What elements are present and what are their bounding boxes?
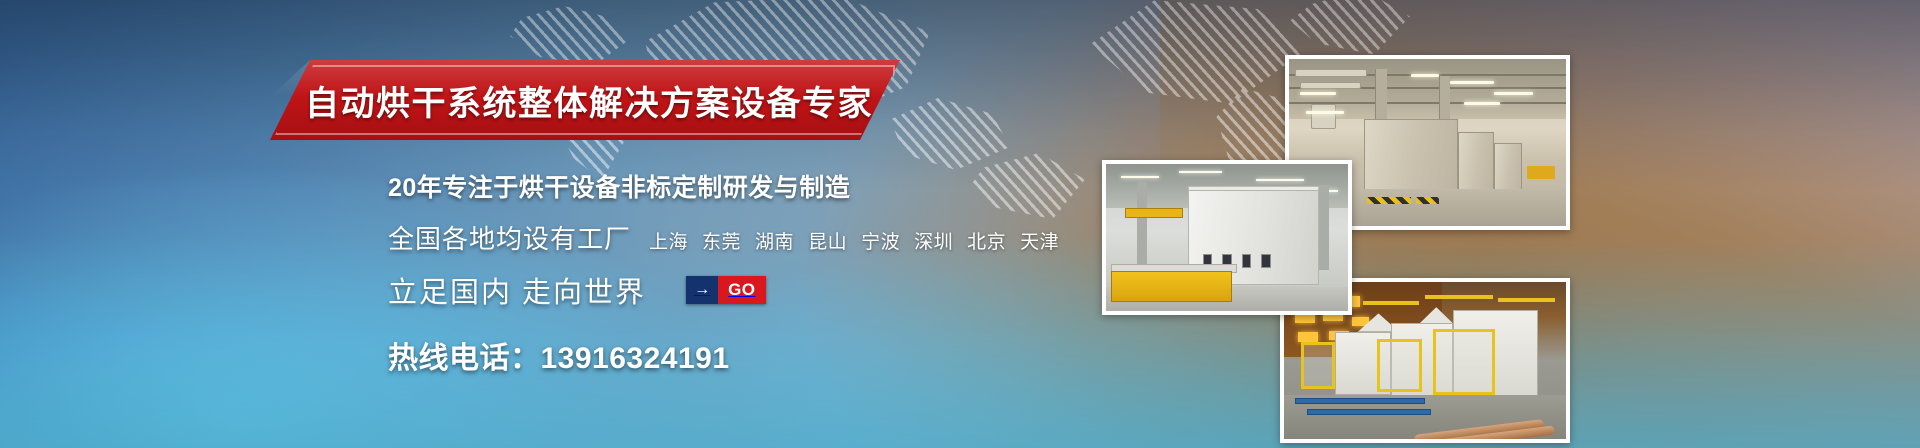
hall-light [1450, 81, 1494, 84]
line-safety-cage [1377, 339, 1422, 392]
hall-duct [1300, 82, 1361, 89]
hall-oven [1364, 119, 1458, 199]
go-button-label: GO [718, 276, 765, 304]
hall-hazard-stripe [1367, 197, 1411, 204]
factory-lead-text: 全国各地均设有工厂 [388, 219, 631, 256]
line-conveyor [1295, 398, 1425, 404]
city-item: 天津 [1020, 227, 1059, 254]
hotline-text: 热线电话：13916324191 [388, 333, 1168, 377]
hall-light [1464, 102, 1500, 105]
copy-block: 20年专注于烘干设备非标定制研发与制造 全国各地均设有工厂 上海 东莞 湖南 昆… [388, 168, 1168, 377]
line-railing [1425, 295, 1493, 299]
line-safety-cage [1301, 342, 1335, 389]
city-item: 深圳 [914, 227, 953, 254]
go-button[interactable]: → GO [686, 276, 765, 304]
chamber-light [1179, 171, 1223, 173]
chamber-window [1242, 254, 1252, 269]
chamber-overhead-crane [1125, 208, 1183, 218]
chamber-light [1121, 176, 1160, 178]
slogan-row: 立足国内 走向世界 → GO [388, 269, 1168, 311]
chamber-light [1256, 179, 1304, 181]
arrow-right-icon: → [686, 276, 718, 304]
line-railing [1363, 301, 1419, 305]
hall-duct [1295, 69, 1367, 77]
scene-drying-chamber [1106, 164, 1348, 311]
line-glow-window [1298, 332, 1318, 341]
hall-light [1494, 92, 1533, 95]
page-title: 自动烘干系统整体解决方案设备专家 [270, 60, 900, 140]
photo-drying-chamber-image [1106, 164, 1348, 311]
city-item: 北京 [967, 227, 1006, 254]
headline-ribbon: 自动烘干系统整体解决方案设备专家 [270, 60, 900, 140]
hall-light [1411, 74, 1439, 77]
hall-oven [1494, 143, 1522, 195]
photo-drying-chamber[interactable] [1102, 160, 1352, 315]
subheadline: 20年专注于烘干设备非标定制研发与制造 [388, 168, 1168, 204]
city-item: 昆山 [808, 227, 847, 254]
city-item: 上海 [649, 227, 688, 254]
hall-light [1306, 111, 1345, 114]
hall-crane [1527, 166, 1555, 179]
line-railing [1498, 298, 1554, 302]
chamber-transfer-cart [1111, 271, 1232, 302]
chamber-pillar [1319, 185, 1329, 270]
city-item: 东莞 [702, 227, 741, 254]
city-item: 宁波 [861, 227, 900, 254]
slogan-text: 立足国内 走向世界 [388, 269, 646, 311]
line-safety-cage [1433, 329, 1495, 395]
promo-banner: 自动烘干系统整体解决方案设备专家 20年专注于烘干设备非标定制研发与制造 全国各… [0, 0, 1920, 448]
hall-hazard-stripe [1416, 197, 1438, 204]
chamber-pillar [1137, 182, 1147, 273]
chamber-window [1261, 254, 1271, 269]
hall-light [1300, 92, 1336, 95]
hall-oven [1458, 132, 1494, 195]
city-list: 上海 东莞 湖南 昆山 宁波 深圳 北京 天津 [649, 227, 1059, 254]
hall-duct [1311, 104, 1336, 129]
line-conveyor [1307, 409, 1431, 415]
city-item: 湖南 [755, 227, 794, 254]
factory-locations-row: 全国各地均设有工厂 上海 东莞 湖南 昆山 宁波 深圳 北京 天津 [388, 219, 1168, 256]
